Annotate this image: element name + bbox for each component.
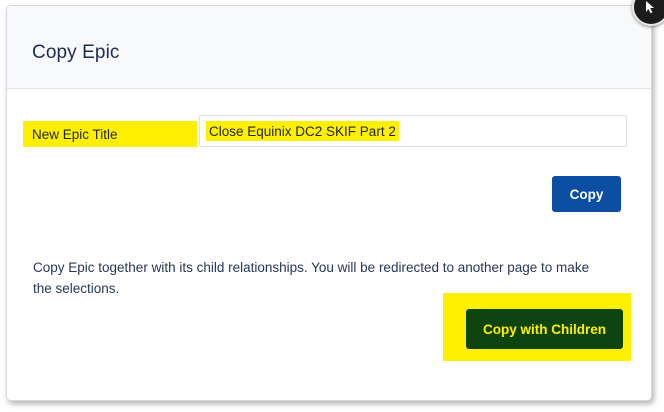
page-title: Copy Epic	[32, 42, 120, 64]
copy-with-children-button[interactable]: Copy with Children	[466, 309, 623, 349]
dialog-header: Copy Epic	[7, 6, 651, 89]
page-gutter	[0, 0, 3, 412]
new-epic-title-label: New Epic Title	[23, 121, 197, 147]
copy-button[interactable]: Copy	[552, 176, 621, 212]
new-epic-title-input[interactable]	[199, 115, 627, 147]
new-epic-title-row: New Epic Title Close Equinix DC2 SKIF Pa…	[7, 90, 651, 150]
new-epic-title-field[interactable]: Close Equinix DC2 SKIF Part 2	[199, 115, 627, 147]
dialog-body: New Epic Title Close Equinix DC2 SKIF Pa…	[7, 90, 651, 400]
copy-epic-dialog: Copy Epic New Epic Title Close Equinix D…	[6, 5, 652, 401]
